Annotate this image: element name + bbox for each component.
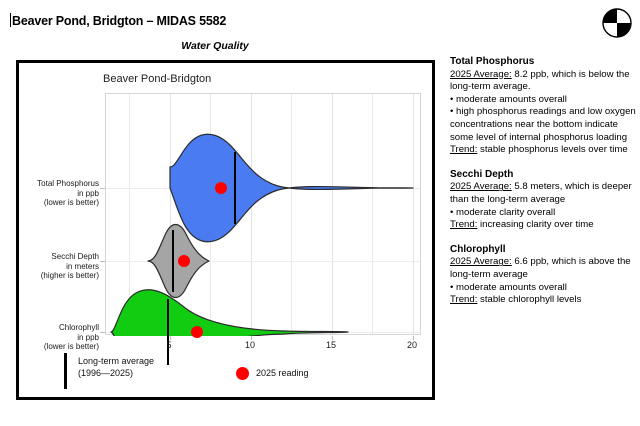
note-bullet-2-phosphorus: • high phosphorus readings and low oxyge…	[450, 106, 636, 144]
legend-reading-label: 2025 reading	[256, 368, 309, 378]
chart-panel: Beaver Pond-Bridgton Total Phosphorus in…	[16, 60, 435, 400]
x-tick-label-15: 15	[319, 340, 343, 350]
violin-shapes	[106, 94, 422, 336]
note-block-chlorophyll: Chlorophyll 2025 Average: 6.6 ppb, which…	[450, 244, 636, 307]
title-text-caret	[10, 13, 11, 27]
legend-average-line-2: (1996—2025)	[78, 367, 154, 379]
note-trend-label: Trend:	[450, 294, 477, 305]
long-term-average-bar-phosphorus	[234, 152, 236, 224]
note-block-secchi: Secchi Depth 2025 Average: 5.8 meters, w…	[450, 169, 636, 232]
note-average-label: 2025 Average:	[450, 69, 512, 80]
x-tick-label-20: 20	[400, 340, 424, 350]
note-heading-chlorophyll: Chlorophyll	[450, 244, 636, 257]
long-term-average-bar-secchi	[172, 230, 174, 292]
note-bullet-1-phosphorus: • moderate amounts overall	[450, 94, 636, 107]
note-bullet-1-secchi: • moderate clarity overall	[450, 207, 636, 220]
note-average-label: 2025 Average:	[450, 181, 512, 192]
reading-dot-secchi	[178, 255, 190, 267]
quadrant-circle-logo-icon	[602, 8, 632, 38]
x-tick-label-10: 10	[238, 340, 262, 350]
chart-title: Beaver Pond-Bridgton	[103, 73, 211, 85]
axis-label-line-1: Secchi Depth	[19, 252, 99, 262]
section-subtitle: Water Quality	[0, 40, 430, 52]
axis-label-secchi-depth: Secchi Depth in meters (higher is better…	[19, 252, 99, 281]
axis-label-chlorophyll: Chlorophyll in ppb (lower is better)	[19, 323, 99, 352]
note-trend-label: Trend:	[450, 219, 477, 230]
axis-label-line-2: in meters	[19, 262, 99, 272]
legend-average-line-1: Long-term average	[78, 355, 154, 367]
reading-dot-chlorophyll	[191, 326, 203, 338]
violin-plot-area	[105, 93, 421, 335]
axis-label-line-2: in ppb	[19, 189, 99, 199]
legend-reading-dot-icon	[236, 367, 249, 380]
chart-legend: Long-term average (1996—2025) 2025 readi…	[64, 353, 394, 395]
note-trend-label: Trend:	[450, 144, 477, 155]
note-average-secchi: 2025 Average: 5.8 meters, which is deepe…	[450, 181, 636, 206]
note-trend-value: stable phosphorus levels over time	[477, 144, 627, 155]
axis-label-total-phosphorus: Total Phosphorus in ppb (lower is better…	[19, 179, 99, 208]
note-average-phosphorus: 2025 Average: 8.2 ppb, which is below th…	[450, 69, 636, 94]
note-average-label: 2025 Average:	[450, 256, 512, 267]
note-bullet-1-chlorophyll: • moderate amounts overall	[450, 282, 636, 295]
note-average-chlorophyll: 2025 Average: 6.6 ppb, which is above th…	[450, 256, 636, 281]
axis-label-line-2: in ppb	[19, 333, 99, 343]
axis-label-line-3: (lower is better)	[19, 198, 99, 208]
x-tick-label-5: 5	[157, 340, 181, 350]
axis-label-line-1: Chlorophyll	[19, 323, 99, 333]
legend-average-bar-icon	[64, 353, 67, 389]
note-trend-secchi: Trend: increasing clarity over time	[450, 219, 636, 232]
note-trend-chlorophyll: Trend: stable chlorophyll levels	[450, 294, 636, 307]
note-trend-value: increasing clarity over time	[477, 219, 593, 230]
note-trend-phosphorus: Trend: stable phosphorus levels over tim…	[450, 144, 636, 157]
water-quality-notes: Total Phosphorus 2025 Average: 8.2 ppb, …	[450, 56, 636, 319]
note-heading-phosphorus: Total Phosphorus	[450, 56, 636, 69]
page-title: Beaver Pond, Bridgton – MIDAS 5582	[12, 14, 226, 28]
note-trend-value: stable chlorophyll levels	[477, 294, 581, 305]
note-block-phosphorus: Total Phosphorus 2025 Average: 8.2 ppb, …	[450, 56, 636, 157]
axis-label-line-3: (lower is better)	[19, 342, 99, 352]
legend-average-label: Long-term average (1996—2025)	[78, 355, 154, 379]
axis-label-line-3: (higher is better)	[19, 271, 99, 281]
reading-dot-phosphorus	[215, 182, 227, 194]
note-heading-secchi: Secchi Depth	[450, 169, 636, 182]
axis-label-line-1: Total Phosphorus	[19, 179, 99, 189]
